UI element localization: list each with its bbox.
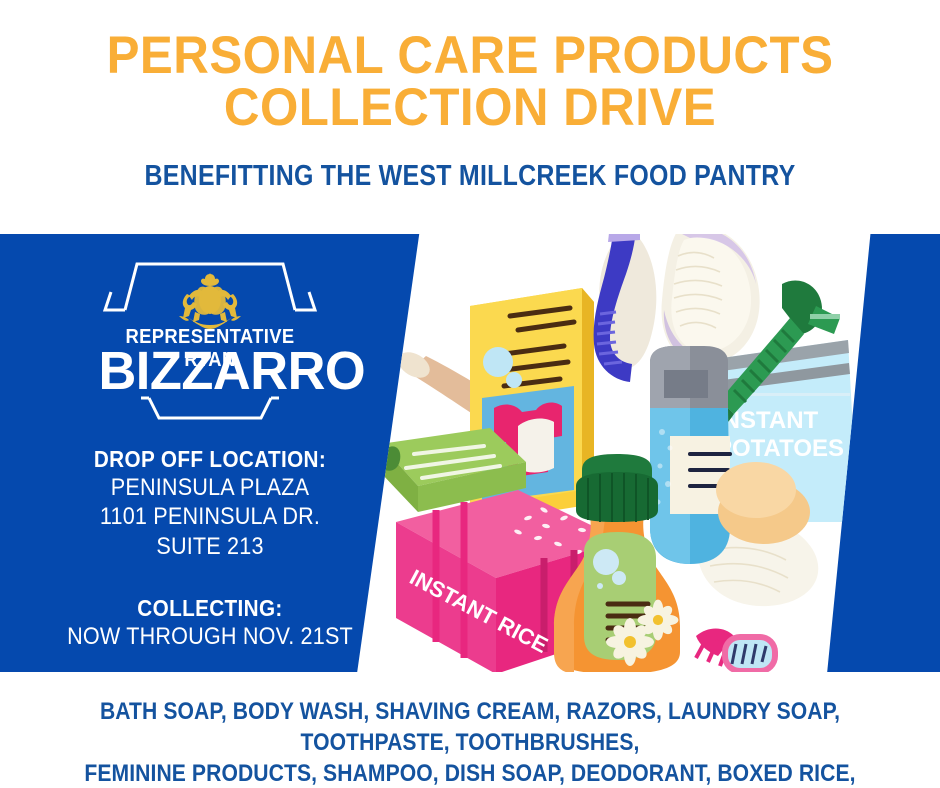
artwork-illustration: INSTANT POTATOES	[378, 234, 878, 672]
info-column: REPRESENTATIVE RYAN BIZZARRO DROP OFF LO…	[30, 234, 390, 672]
footer: BATH SOAP, BODY WASH, SHAVING CREAM, RAZ…	[0, 672, 940, 788]
collecting-label: COLLECTING:	[48, 595, 372, 622]
razor-pink-icon	[696, 629, 778, 673]
representative-logo: REPRESENTATIVE RYAN BIZZARRO	[95, 252, 325, 424]
pennsylvania-coat-of-arms-icon	[173, 272, 247, 330]
items-line-2: FEMININE PRODUCTS, SHAMPOO, DISH SOAP, D…	[56, 758, 883, 788]
instant-potatoes-label-line2: POTATOES	[716, 435, 844, 462]
dropoff-line-2: 1101 PENINSULA DR.	[48, 502, 372, 531]
collecting-value: NOW THROUGH NOV. 21ST	[48, 622, 372, 651]
dropoff-line-3: SUITE 213	[48, 532, 372, 561]
product-illustration-svg: INSTANT POTATOES	[378, 234, 878, 672]
dropoff-label: DROP OFF LOCATION:	[48, 446, 372, 473]
logo-name-text: BIZZARRO	[98, 344, 321, 398]
dropoff-line-1: PENINSULA PLAZA	[48, 473, 372, 502]
dropoff-block: DROP OFF LOCATION: PENINSULA PLAZA 1101 …	[30, 446, 390, 561]
items-line-1: BATH SOAP, BODY WASH, SHAVING CREAM, RAZ…	[56, 696, 883, 758]
collecting-block: COLLECTING: NOW THROUGH NOV. 21ST	[30, 595, 390, 651]
flyer: PERSONAL CARE PRODUCTS COLLECTION DRIVE …	[0, 0, 940, 788]
banner-bottom-icon	[95, 394, 325, 424]
page-title: PERSONAL CARE PRODUCTS COLLECTION DRIVE	[33, 0, 907, 134]
header: PERSONAL CARE PRODUCTS COLLECTION DRIVE …	[0, 0, 940, 234]
page-subtitle: BENEFITTING THE WEST MILLCREEK FOOD PANT…	[66, 134, 874, 193]
deodorant-spray-icon	[650, 346, 730, 564]
main-band: INSTANT POTATOES	[0, 234, 940, 672]
